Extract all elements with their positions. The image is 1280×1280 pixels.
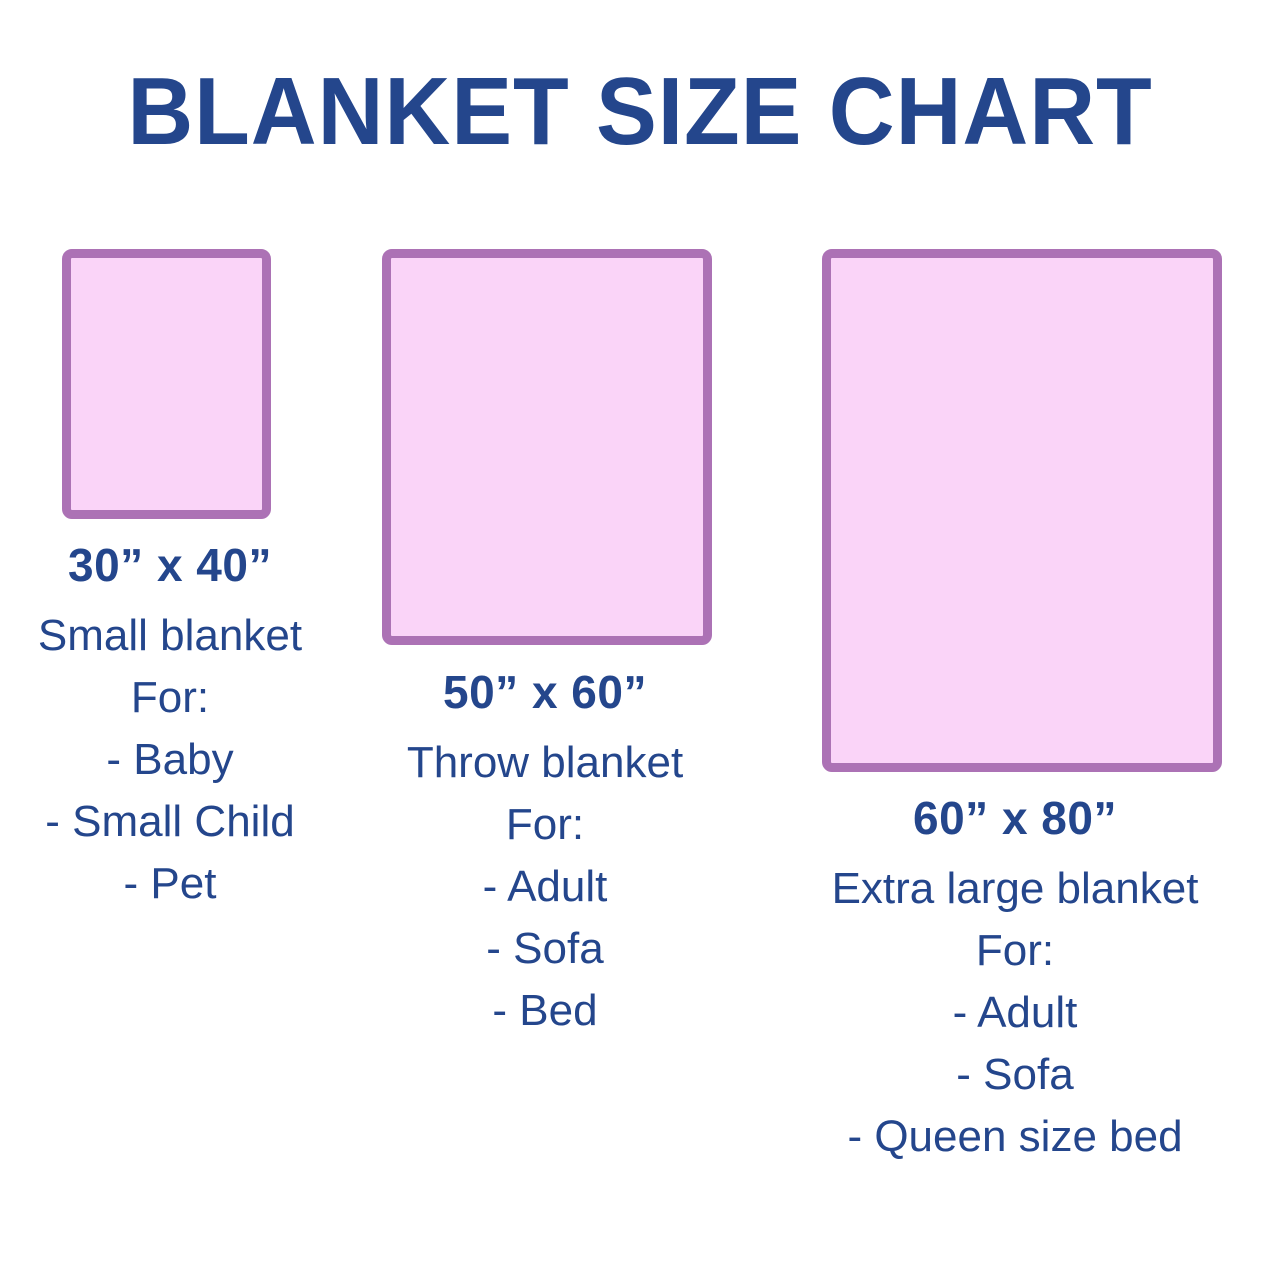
size-column-throw: 50” x 60” Throw blanket For: - Adult - S… [340,0,750,1280]
for-label-small: For: [0,667,340,729]
blanket-size-chart: BLANKET SIZE CHART 30” x 40” Small blank… [0,0,1280,1280]
use-list-extra-large: - Adult - Sofa - Queen size bed [750,982,1280,1168]
list-item: - Sofa [340,918,750,980]
for-label-extra-large: For: [750,920,1280,982]
dimension-label-throw: 50” x 60” [340,662,750,722]
blanket-name-throw: Throw blanket [340,732,750,794]
caption-extra-large: 60” x 80” Extra large blanket For: - Adu… [750,788,1280,1168]
list-item: - Bed [340,980,750,1042]
blanket-swatch-extra-large [822,249,1222,772]
list-item: - Pet [0,853,340,915]
list-item: - Queen size bed [750,1106,1280,1168]
list-item: - Small Child [0,791,340,853]
dimension-label-small: 30” x 40” [0,535,340,595]
dimension-label-extra-large: 60” x 80” [750,788,1280,848]
use-list-small: - Baby - Small Child - Pet [0,729,340,915]
size-column-small: 30” x 40” Small blanket For: - Baby - Sm… [0,0,340,1280]
blanket-swatch-small [62,249,271,519]
caption-small: 30” x 40” Small blanket For: - Baby - Sm… [0,535,340,915]
list-item: - Baby [0,729,340,791]
list-item: - Adult [340,856,750,918]
blanket-name-extra-large: Extra large blanket [750,858,1280,920]
for-label-throw: For: [340,794,750,856]
size-column-extra-large: 60” x 80” Extra large blanket For: - Adu… [750,0,1280,1280]
blanket-swatch-throw [382,249,712,645]
list-item: - Adult [750,982,1280,1044]
caption-throw: 50” x 60” Throw blanket For: - Adult - S… [340,662,750,1042]
list-item: - Sofa [750,1044,1280,1106]
use-list-throw: - Adult - Sofa - Bed [340,856,750,1042]
blanket-name-small: Small blanket [0,605,340,667]
